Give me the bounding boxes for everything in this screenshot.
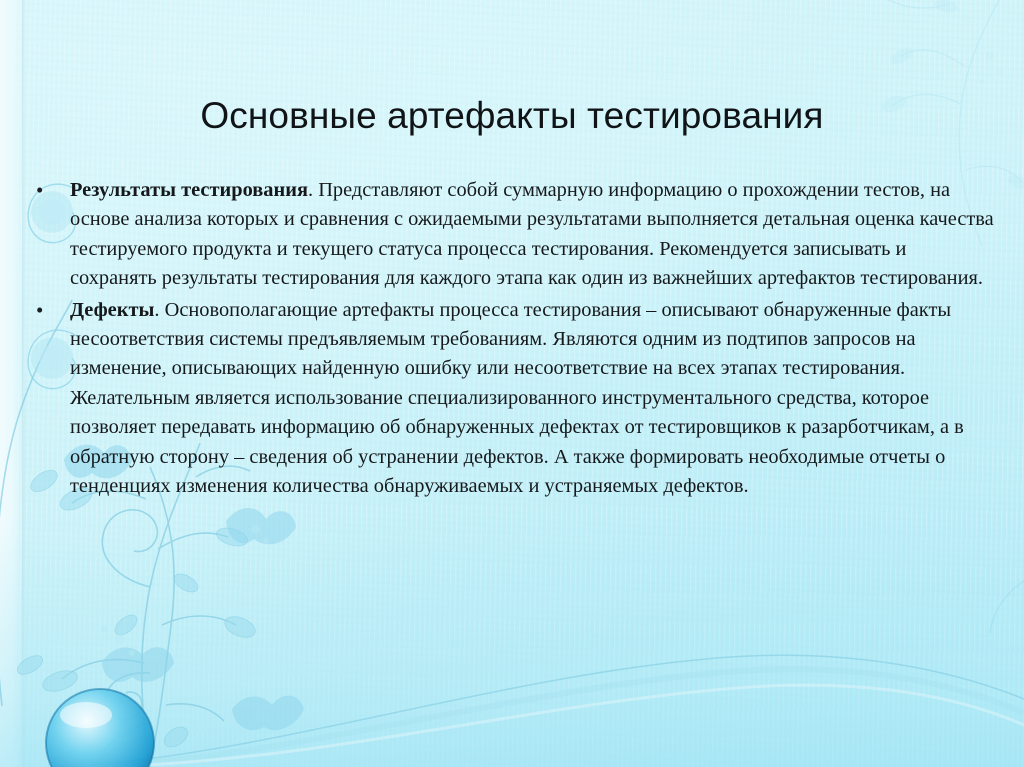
bullet-lead-term: Дефекты <box>70 299 154 321</box>
bullet-paragraph: Результаты тестирования. Представляют со… <box>70 176 998 294</box>
bullet-body-text: . Основополагающие артефакты процесса те… <box>70 299 964 497</box>
bullet-lead-term: Результаты тестирования <box>70 179 308 201</box>
bullet-marker-icon: • <box>30 296 70 325</box>
list-item: • Результаты тестирования. Представляют … <box>30 176 998 294</box>
slide-body: • Результаты тестирования. Представляют … <box>30 176 998 503</box>
list-item: • Дефекты. Основополагающие артефакты пр… <box>30 296 998 502</box>
bullet-marker-icon: • <box>30 176 70 205</box>
slide-canvas: Основные артефакты тестирования • Резуль… <box>0 0 1024 767</box>
page-title: Основные артефакты тестирования <box>0 96 1024 137</box>
bullet-paragraph: Дефекты. Основополагающие артефакты проц… <box>70 296 998 502</box>
bottom-gradient-wash <box>0 517 1024 767</box>
